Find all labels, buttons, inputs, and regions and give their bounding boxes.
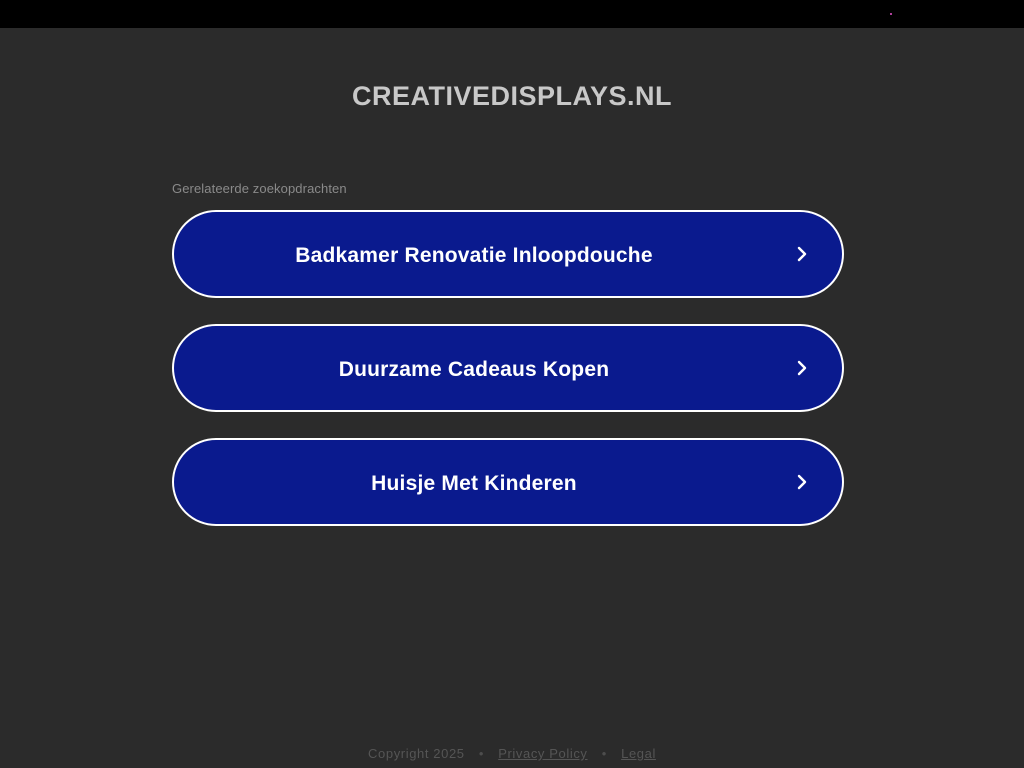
chevron-right-icon: [792, 244, 812, 264]
chevron-right-icon: [792, 358, 812, 378]
related-searches-label: Gerelateerde zoekopdrachten: [172, 181, 347, 196]
footer-separator: •: [602, 746, 607, 761]
related-search-item[interactable]: Duurzame Cadeaus Kopen: [172, 324, 844, 412]
related-searches-list: Badkamer Renovatie Inloopdouche Duurzame…: [172, 210, 852, 552]
related-search-item[interactable]: Huisje Met Kinderen: [172, 438, 844, 526]
footer-legal-link[interactable]: Legal: [621, 746, 656, 761]
chevron-right-icon: [792, 472, 812, 492]
footer-privacy-policy-link[interactable]: Privacy Policy: [498, 746, 587, 761]
footer-separator: •: [479, 746, 484, 761]
page-content: CREATIVEDISPLAYS.NL Gerelateerde zoekopd…: [0, 28, 1024, 768]
related-search-label: Duurzame Cadeaus Kopen: [174, 326, 774, 414]
related-search-item[interactable]: Badkamer Renovatie Inloopdouche: [172, 210, 844, 298]
related-search-label: Huisje Met Kinderen: [174, 440, 774, 528]
page-title: CREATIVEDISPLAYS.NL: [0, 81, 1024, 112]
browser-top-bar: [0, 0, 1024, 28]
footer-copyright: Copyright 2025: [368, 746, 465, 761]
pixel-artifact-dot: [890, 13, 892, 15]
footer: Copyright 2025 • Privacy Policy • Legal: [0, 746, 1024, 761]
related-search-label: Badkamer Renovatie Inloopdouche: [174, 212, 774, 300]
